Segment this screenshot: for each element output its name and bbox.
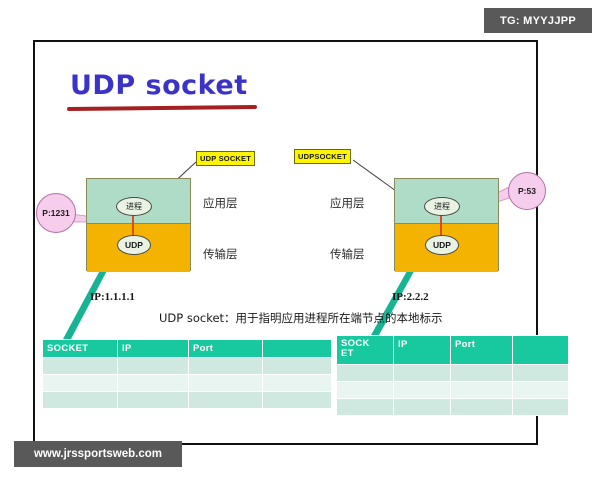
column-header-port: Port — [189, 340, 263, 358]
table-cell — [43, 375, 118, 392]
table-header-row: SOCK ET IP Port — [337, 336, 569, 365]
ip-label-left: IP:1.1.1.1 — [90, 291, 135, 303]
socket-table-left: SOCKET IP Port — [42, 339, 332, 409]
udp-socket-tag-right: UDPSOCKET — [294, 149, 351, 164]
column-header-socket: SOCKET — [43, 340, 118, 358]
table-cell — [43, 358, 118, 375]
table-row — [337, 399, 569, 416]
table-cell — [118, 358, 189, 375]
table-cell — [189, 375, 263, 392]
socket-binding-line-right — [440, 215, 442, 237]
udp-ellipse-right: UDP — [425, 235, 459, 255]
table-cell — [189, 358, 263, 375]
table-row — [337, 365, 569, 382]
telegram-watermark-badge: TG: MYYJJPP — [484, 8, 592, 33]
table-cell — [263, 358, 332, 375]
ip-label-right: IP:2.2.2 — [392, 291, 429, 303]
table-cell — [394, 399, 451, 416]
table-cell — [394, 365, 451, 382]
port-bubble-right: P:53 — [508, 172, 546, 210]
table-cell — [513, 382, 569, 399]
table-header-row: SOCKET IP Port — [43, 340, 332, 358]
socket-table-right: SOCK ET IP Port — [336, 335, 569, 416]
slide-caption: UDP socket：用于指明应用进程所在端节点的本地标示 — [159, 310, 443, 326]
column-header-ip: IP — [394, 336, 451, 365]
protocol-stack-left: 进程 UDP — [86, 178, 191, 271]
table-cell — [189, 392, 263, 409]
table-cell — [263, 392, 332, 409]
table-cell — [118, 392, 189, 409]
protocol-stack-right: 进程 UDP — [394, 178, 499, 271]
process-ellipse-left: 进程 — [116, 197, 152, 216]
table-cell — [394, 382, 451, 399]
table-cell — [451, 365, 513, 382]
table-cell — [451, 399, 513, 416]
port-bubble-left: P:1231 — [36, 193, 76, 233]
table-cell — [337, 399, 394, 416]
transport-layer-label-right: 传输层 — [330, 246, 365, 262]
socket-binding-line-left — [132, 215, 134, 237]
transport-layer-label-left: 传输层 — [203, 246, 238, 262]
page-title: UDP socket — [70, 70, 248, 101]
title-underline — [67, 105, 257, 111]
table-row — [43, 392, 332, 409]
udp-socket-tag-left: UDP SOCKET — [196, 151, 255, 166]
table-row — [43, 358, 332, 375]
udp-ellipse-left: UDP — [117, 235, 151, 255]
table-cell — [451, 382, 513, 399]
table-cell — [43, 392, 118, 409]
column-header-socket: SOCK ET — [337, 336, 394, 365]
slide-canvas: UDP socket 进程 UDP 应用层 传输层 UDP SOCKET P:1… — [33, 40, 538, 445]
process-ellipse-right: 进程 — [424, 197, 460, 216]
table-cell — [513, 365, 569, 382]
table-row — [43, 375, 332, 392]
table-row — [337, 382, 569, 399]
application-layer-label-right: 应用层 — [330, 195, 365, 211]
column-header-ip: IP — [118, 340, 189, 358]
table-cell — [337, 382, 394, 399]
column-header-blank — [513, 336, 569, 365]
site-watermark-badge: www.jrssportsweb.com — [14, 441, 182, 467]
application-layer-label-left: 应用层 — [203, 195, 238, 211]
table-cell — [513, 399, 569, 416]
table-cell — [263, 375, 332, 392]
column-header-blank — [263, 340, 332, 358]
column-header-port: Port — [451, 336, 513, 365]
table-cell — [118, 375, 189, 392]
table-cell — [337, 365, 394, 382]
